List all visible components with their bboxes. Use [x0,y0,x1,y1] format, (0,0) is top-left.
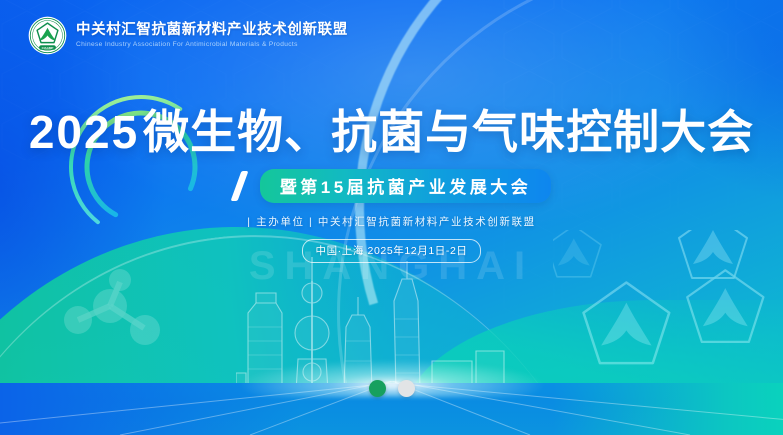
association-name-en: Chinese Industry Association For Antimic… [76,41,348,48]
slash-accent-icon [232,171,252,201]
hero-block: 2025微生物、抗菌与气味控制大会 暨第15届抗菌产业发展大会 | 主办单位 |… [0,108,783,263]
carousel-dot-1[interactable] [369,380,386,397]
association-emblem-icon: CIAAMP [28,16,67,55]
title-main: 微生物、抗菌与气味控制大会 [143,106,754,158]
carousel-dot-2[interactable] [398,380,415,397]
subtitle-row: 暨第15届抗菌产业发展大会 [0,169,783,203]
date-location-badge: 中国·上海 2025年12月1日-2日 [302,239,480,263]
shanghai-skyline-icon [236,241,556,391]
conference-banner: SHANGHAI [0,0,783,435]
date-location-row: 中国·上海 2025年12月1日-2日 [0,239,783,263]
carousel-indicators[interactable] [0,380,783,397]
title-year: 2025 [29,106,139,158]
molecule-icon [48,268,178,358]
subtitle-badge: 暨第15届抗菌产业发展大会 [260,169,551,203]
association-name-block: 中关村汇智抗菌新材料产业技术创新联盟 Chinese Industry Asso… [76,22,348,48]
svg-text:CIAAMP: CIAAMP [42,46,54,50]
page-title: 2025微生物、抗菌与气味控制大会 [0,108,783,157]
association-header[interactable]: CIAAMP 中关村汇智抗菌新材料产业技术创新联盟 Chinese Indust… [28,16,348,55]
organizer-line: | 主办单位 | 中关村汇智抗菌新材料产业技术创新联盟 [0,214,783,229]
teal-band-shape [403,300,783,435]
association-name-cn: 中关村汇智抗菌新材料产业技术创新联盟 [76,23,348,39]
